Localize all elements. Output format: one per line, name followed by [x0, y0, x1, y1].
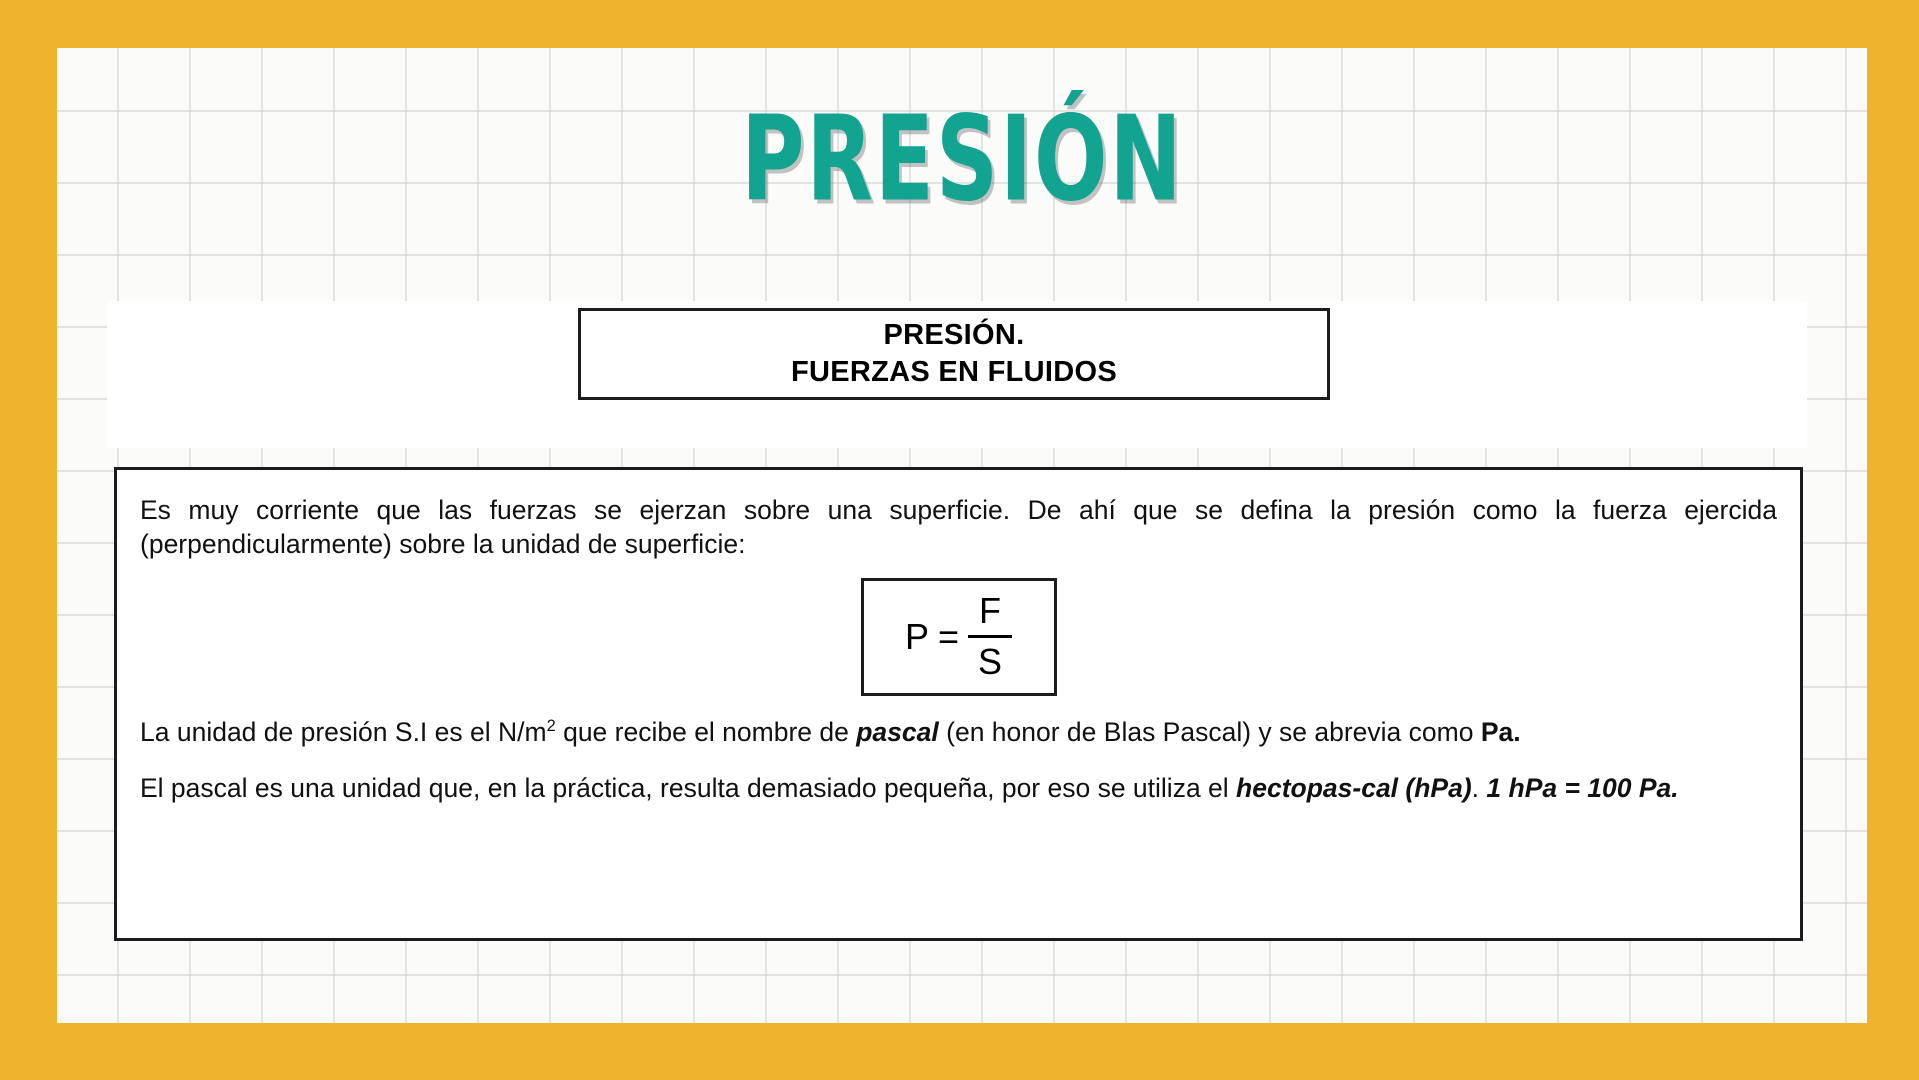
unit-text-segment-1: La unidad de presión S.I es el N/m [140, 717, 547, 747]
formula-equals-sign: = [938, 619, 959, 655]
formula-fraction-bar [968, 635, 1012, 638]
hecto-text-segment-1: El pascal es una unidad que, en la práct… [140, 773, 1236, 803]
paragraph-hectopascal: El pascal es una unidad que, en la práct… [140, 772, 1777, 806]
abbreviation-pa: Pa. [1481, 717, 1521, 747]
formula-fraction: F S [968, 592, 1012, 681]
unit-text-segment-3: (en honor de Blas Pascal) y se abrevia c… [939, 717, 1481, 747]
document-title-area: PRESIÓN [57, 90, 1867, 230]
content-box: Es muy corriente que las fuerzas se ejer… [114, 467, 1803, 941]
paragraph-si-unit: La unidad de presión S.I es el N/m2 que … [140, 716, 1777, 750]
formula-denominator: S [972, 643, 1008, 681]
unit-text-segment-2: que recibe el nombre de [556, 717, 857, 747]
superscript-two: 2 [547, 717, 556, 735]
formula-variable-p: P [905, 619, 929, 655]
formula-numerator: F [973, 592, 1007, 630]
page-title: PRESIÓN [741, 101, 1184, 219]
header-title-box: PRESIÓN. FUERZAS EN FLUIDOS [578, 308, 1330, 400]
hectopascal-equivalence: 1 hPa = 100 Pa. [1486, 773, 1678, 803]
term-pascal: pascal [856, 717, 939, 747]
pressure-formula-box: P = F S [861, 578, 1057, 696]
paragraph-definition: Es muy corriente que las fuerzas se ejer… [140, 494, 1777, 562]
hecto-text-segment-2: . [1472, 773, 1487, 803]
term-hectopascal: hectopas-cal (hPa) [1236, 773, 1472, 803]
formula-container: P = F S [140, 578, 1777, 696]
header-line-2: FUERZAS EN FLUIDOS [791, 354, 1117, 391]
header-line-1: PRESIÓN. [884, 317, 1025, 354]
